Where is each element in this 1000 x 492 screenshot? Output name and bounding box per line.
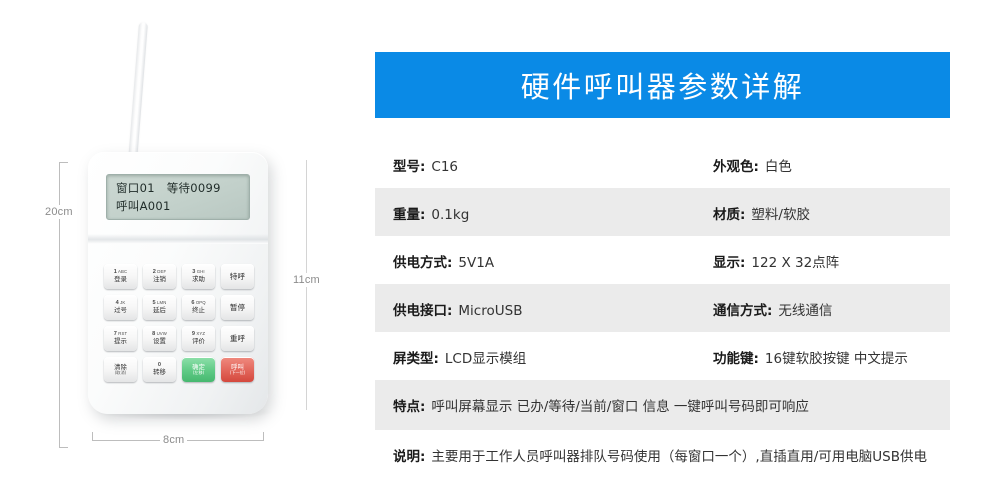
keypad-key-评价[interactable]: 9 XYZ评价: [182, 326, 215, 351]
key-main-label: 终止: [192, 307, 205, 313]
spec-row: 型号:C16外观色:白色: [375, 140, 950, 188]
lcd-screen: 窗口01 等待0099 呼叫A001: [106, 174, 250, 220]
spec-cell: 供电接口:MicroUSB: [393, 284, 713, 332]
caller-device-body: 窗口01 等待0099 呼叫A001 1 ABC登录2 DEF注销3 GHI求助…: [88, 152, 268, 414]
keypad-key-设置[interactable]: 8 UVW设置: [143, 326, 176, 351]
spec-label: 型号:: [393, 155, 425, 175]
spec-header-banner: 硬件呼叫器参数详解: [375, 52, 950, 118]
device-bevel: [88, 234, 268, 244]
spec-value: 0.1kg: [431, 207, 469, 223]
key-main-label: 转移: [153, 369, 166, 375]
key-main-label: 注销: [153, 276, 166, 282]
spec-cell: 供电方式:5V1A: [393, 236, 713, 284]
spec-row: 特点:呼叫屏幕显示 已办/等待/当前/窗口 信息 一键呼叫号码即可响应: [375, 380, 950, 430]
spec-value: 呼叫屏幕显示 已办/等待/当前/窗口 信息 一键呼叫号码即可响应: [431, 398, 809, 417]
spec-label: 特点:: [393, 395, 425, 415]
keypad-key-求助[interactable]: 3 GHI求助: [182, 264, 215, 289]
key-main-label: 提示: [114, 338, 127, 344]
product-photo-panel: 20cm 11cm 8cm 窗口01 等待0099 呼叫A001 1 ABC登录…: [0, 0, 360, 492]
spec-value: 主要用于工作人员呼叫器排队号码使用（每窗口一个）,直插直用/可用电脑USB供电: [431, 448, 927, 467]
spec-label: 说明:: [393, 445, 425, 465]
keypad-key-特呼[interactable]: 特呼: [221, 264, 254, 289]
spec-row: 供电接口:MicroUSB通信方式:无线通信: [375, 284, 950, 332]
key-main-label: 重呼: [230, 335, 245, 343]
spec-value: 5V1A: [458, 255, 494, 271]
spec-label: 供电方式:: [393, 251, 452, 271]
keypad: 1 ABC登录2 DEF注销3 GHI求助特呼4 JK过号5 LMN延后6 OP…: [104, 264, 254, 382]
keypad-key-登录[interactable]: 1 ABC登录: [104, 264, 137, 289]
spec-cell: 显示:122 X 32点阵: [713, 236, 950, 284]
spec-label: 通信方式:: [713, 299, 772, 319]
height-dimension-cap-bottom: [59, 447, 68, 448]
keypad-key-提示[interactable]: 7 RST提示: [104, 326, 137, 351]
page-title: 硬件呼叫器参数详解: [521, 64, 805, 106]
key-main-label: 登录: [114, 276, 127, 282]
width-dimension-cap-left: [92, 432, 93, 441]
key-main-label: 延后: [153, 307, 166, 313]
width-dimension-label: 8cm: [160, 433, 187, 447]
keypad-key-终止[interactable]: 6 OPQ终止: [182, 295, 215, 320]
spec-cell: 屏类型:LCD显示模组: [393, 332, 713, 380]
spec-value: LCD显示模组: [445, 347, 526, 367]
key-sub-label: (下一位): [230, 371, 246, 375]
spec-value: 白色: [765, 155, 792, 175]
lcd-line-2: 呼叫A001: [116, 197, 242, 215]
key-main-label: 设置: [153, 338, 166, 344]
antenna: [128, 22, 148, 162]
keypad-key-注销[interactable]: 2 DEF注销: [143, 264, 176, 289]
spec-row: 重量:0.1kg材质:塑料/软胶: [375, 188, 950, 236]
keypad-key-过号[interactable]: 4 JK过号: [104, 295, 137, 320]
spec-row: 屏类型:LCD显示模组功能键:16键软胶按键 中文提示: [375, 332, 950, 380]
spec-value: MicroUSB: [458, 303, 522, 319]
spec-label: 重量:: [393, 203, 425, 223]
spec-cell: 说明:主要用于工作人员呼叫器排队号码使用（每窗口一个）,直插直用/可用电脑USB…: [393, 430, 933, 480]
spec-value: 无线通信: [778, 299, 832, 319]
key-main-label: 过号: [114, 307, 127, 313]
key-main-label: 评价: [192, 338, 205, 344]
spec-cell: 材质:塑料/软胶: [713, 188, 950, 236]
spec-label: 功能键:: [713, 347, 759, 367]
spec-row: 供电方式:5V1A显示:122 X 32点阵: [375, 236, 950, 284]
depth-dimension-label: 11cm: [290, 273, 323, 287]
width-dimension-cap-right: [263, 432, 264, 441]
spec-label: 外观色:: [713, 155, 759, 175]
spec-label: 材质:: [713, 203, 745, 223]
key-sub-label: (左移): [193, 371, 205, 375]
spec-cell: 通信方式:无线通信: [713, 284, 950, 332]
spec-cell: 功能键:16键软胶按键 中文提示: [713, 332, 950, 380]
keypad-key-重呼[interactable]: 重呼: [221, 326, 254, 351]
keypad-key-清除[interactable]: 清除(取消): [104, 357, 137, 382]
spec-row: 说明:主要用于工作人员呼叫器排队号码使用（每窗口一个）,直插直用/可用电脑USB…: [375, 430, 950, 480]
spec-value: 122 X 32点阵: [751, 251, 839, 271]
spec-value: 塑料/软胶: [751, 203, 810, 223]
key-sub-label: (取消): [115, 371, 127, 375]
spec-label: 显示:: [713, 251, 745, 271]
spec-cell: 外观色:白色: [713, 140, 950, 188]
spec-value: 16键软胶按键 中文提示: [765, 347, 908, 367]
height-dimension-label: 20cm: [42, 205, 76, 219]
spec-value: C16: [431, 159, 458, 175]
keypad-key-暂停[interactable]: 暂停: [221, 295, 254, 320]
key-main-label: 特呼: [230, 273, 245, 281]
spec-cell: 重量:0.1kg: [393, 188, 713, 236]
height-dimension-cap-top: [59, 162, 68, 163]
key-main-label: 求助: [192, 276, 205, 282]
spec-label: 屏类型:: [393, 347, 439, 367]
keypad-key-转移[interactable]: 0转移: [143, 357, 176, 382]
spec-cell: 型号:C16: [393, 140, 713, 188]
keypad-key-呼叫[interactable]: 呼叫(下一位): [221, 357, 254, 382]
spec-sheet-panel: 硬件呼叫器参数详解 型号:C16外观色:白色重量:0.1kg材质:塑料/软胶供电…: [375, 0, 950, 492]
lcd-line-1: 窗口01 等待0099: [116, 179, 242, 197]
keypad-key-确定[interactable]: 确定(左移): [182, 357, 215, 382]
spec-cell: 特点:呼叫屏幕显示 已办/等待/当前/窗口 信息 一键呼叫号码即可响应: [393, 380, 933, 430]
keypad-key-延后[interactable]: 5 LMN延后: [143, 295, 176, 320]
spec-label: 供电接口:: [393, 299, 452, 319]
spec-table: 型号:C16外观色:白色重量:0.1kg材质:塑料/软胶供电方式:5V1A显示:…: [375, 140, 950, 480]
key-main-label: 暂停: [230, 304, 245, 312]
